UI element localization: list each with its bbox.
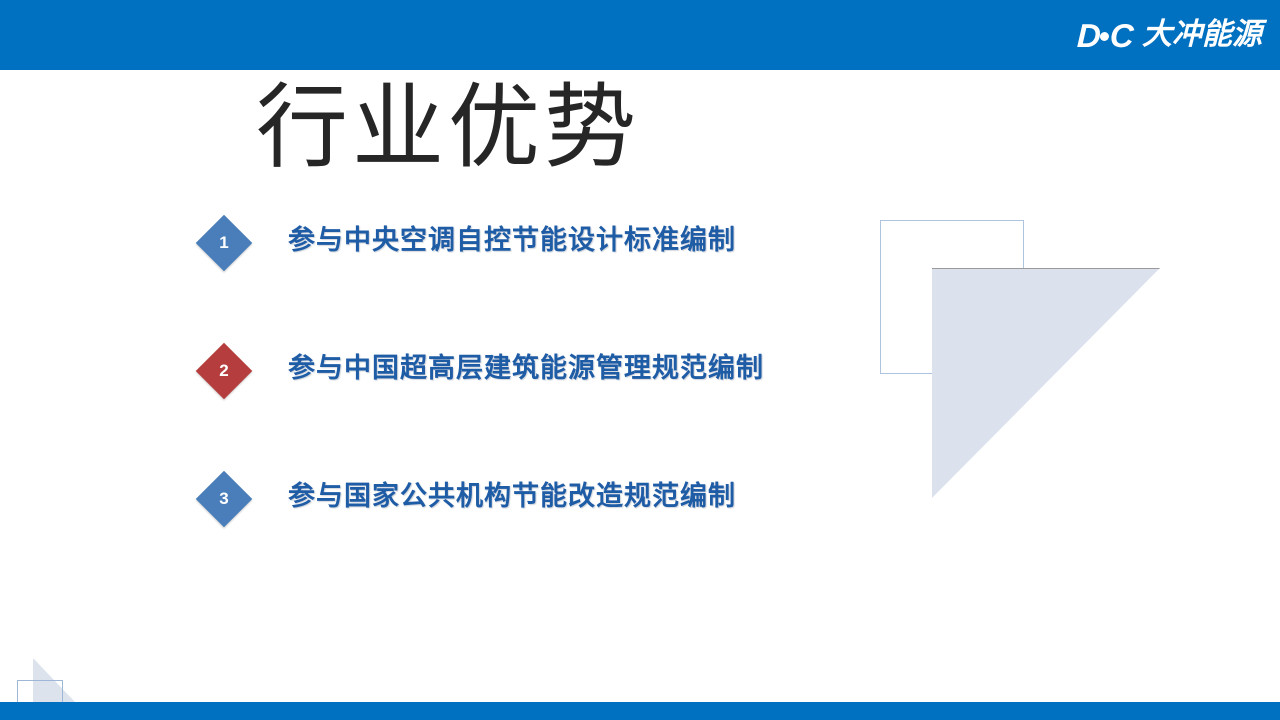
company-logo: DC 大冲能源 — [1077, 0, 1266, 70]
logo-mark-icon: DC — [1077, 19, 1134, 52]
list-item: 3 参与国家公共机构节能改造规范编制 — [196, 469, 836, 597]
logo-letter-d: D — [1077, 19, 1101, 52]
decoration-top-right — [878, 218, 1168, 508]
bullet-number: 2 — [204, 351, 244, 391]
bullet-number: 1 — [204, 223, 244, 263]
logo-company-name: 大冲能源 — [1142, 20, 1262, 50]
diamond-marker-3: 3 — [196, 471, 253, 528]
list-item: 1 参与中央空调自控节能设计标准编制 — [196, 213, 836, 341]
bullet-text: 参与中国超高层建筑能源管理规范编制 — [288, 341, 764, 382]
logo-dot-icon — [1100, 32, 1109, 41]
bullet-list: 1 参与中央空调自控节能设计标准编制 2 参与中国超高层建筑能源管理规范编制 3… — [196, 213, 836, 597]
bullet-text: 参与国家公共机构节能改造规范编制 — [288, 469, 736, 510]
bullet-text: 参与中央空调自控节能设计标准编制 — [288, 213, 736, 254]
list-item: 2 参与中国超高层建筑能源管理规范编制 — [196, 341, 836, 469]
page-title: 行业优势 — [256, 80, 640, 177]
bullet-number: 3 — [204, 479, 244, 519]
slide: DC 大冲能源 行业优势 1 参与中央空调自控节能设计标准编制 2 参与中国超高… — [0, 0, 1280, 720]
diamond-marker-1: 1 — [196, 215, 253, 272]
triangle-shape — [932, 268, 1160, 498]
footer-bar — [0, 702, 1280, 720]
logo-letter-c: C — [1110, 19, 1134, 52]
diamond-marker-2: 2 — [196, 343, 253, 400]
header-bar: DC 大冲能源 — [0, 0, 1280, 70]
